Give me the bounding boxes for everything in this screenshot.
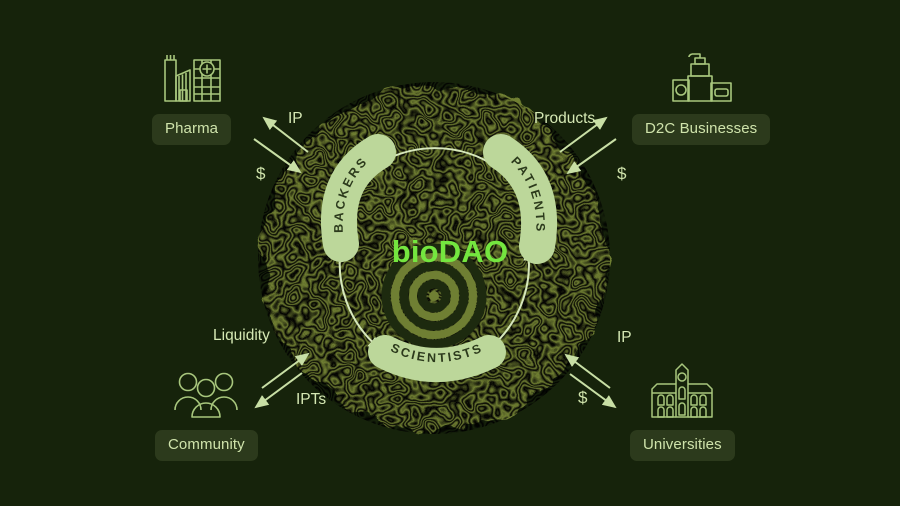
node-pharma[interactable]: Pharma (152, 46, 231, 145)
node-label-community: Community (155, 430, 258, 461)
people-group-icon (167, 362, 245, 424)
node-label-d2c: D2C Businesses (632, 114, 770, 145)
university-building-icon (643, 362, 721, 424)
flow-label-ip-bottom-right: IP (617, 330, 632, 346)
factory-hospital-icon (153, 46, 231, 108)
flow-label-liquidity: Liquidity (213, 328, 270, 344)
arrow-ip-in-universities (566, 355, 610, 388)
node-label-universities: Universities (630, 430, 735, 461)
flow-label-ip-top-left: IP (288, 111, 303, 127)
cosmetic-bottles-icon (662, 46, 740, 108)
flow-label-money-bottom-right: $ (578, 389, 587, 406)
infographic-canvas: BACKERS PATIENTS SCIENTISTS bioDAO (0, 0, 900, 506)
flow-label-products: Products (534, 111, 595, 127)
node-community[interactable]: Community (155, 362, 258, 461)
flow-label-money-top-right: $ (617, 165, 626, 182)
flow-label-ipts: IPTs (296, 392, 326, 408)
arrow-money-in-d2c (568, 139, 616, 173)
node-universities[interactable]: Universities (630, 362, 735, 461)
node-label-pharma: Pharma (152, 114, 231, 145)
node-d2c-businesses[interactable]: D2C Businesses (632, 46, 770, 145)
flow-label-money-top-left: $ (256, 165, 265, 182)
arrow-liquidity-in-community (262, 354, 308, 388)
arrow-money-out-universities (570, 374, 615, 407)
